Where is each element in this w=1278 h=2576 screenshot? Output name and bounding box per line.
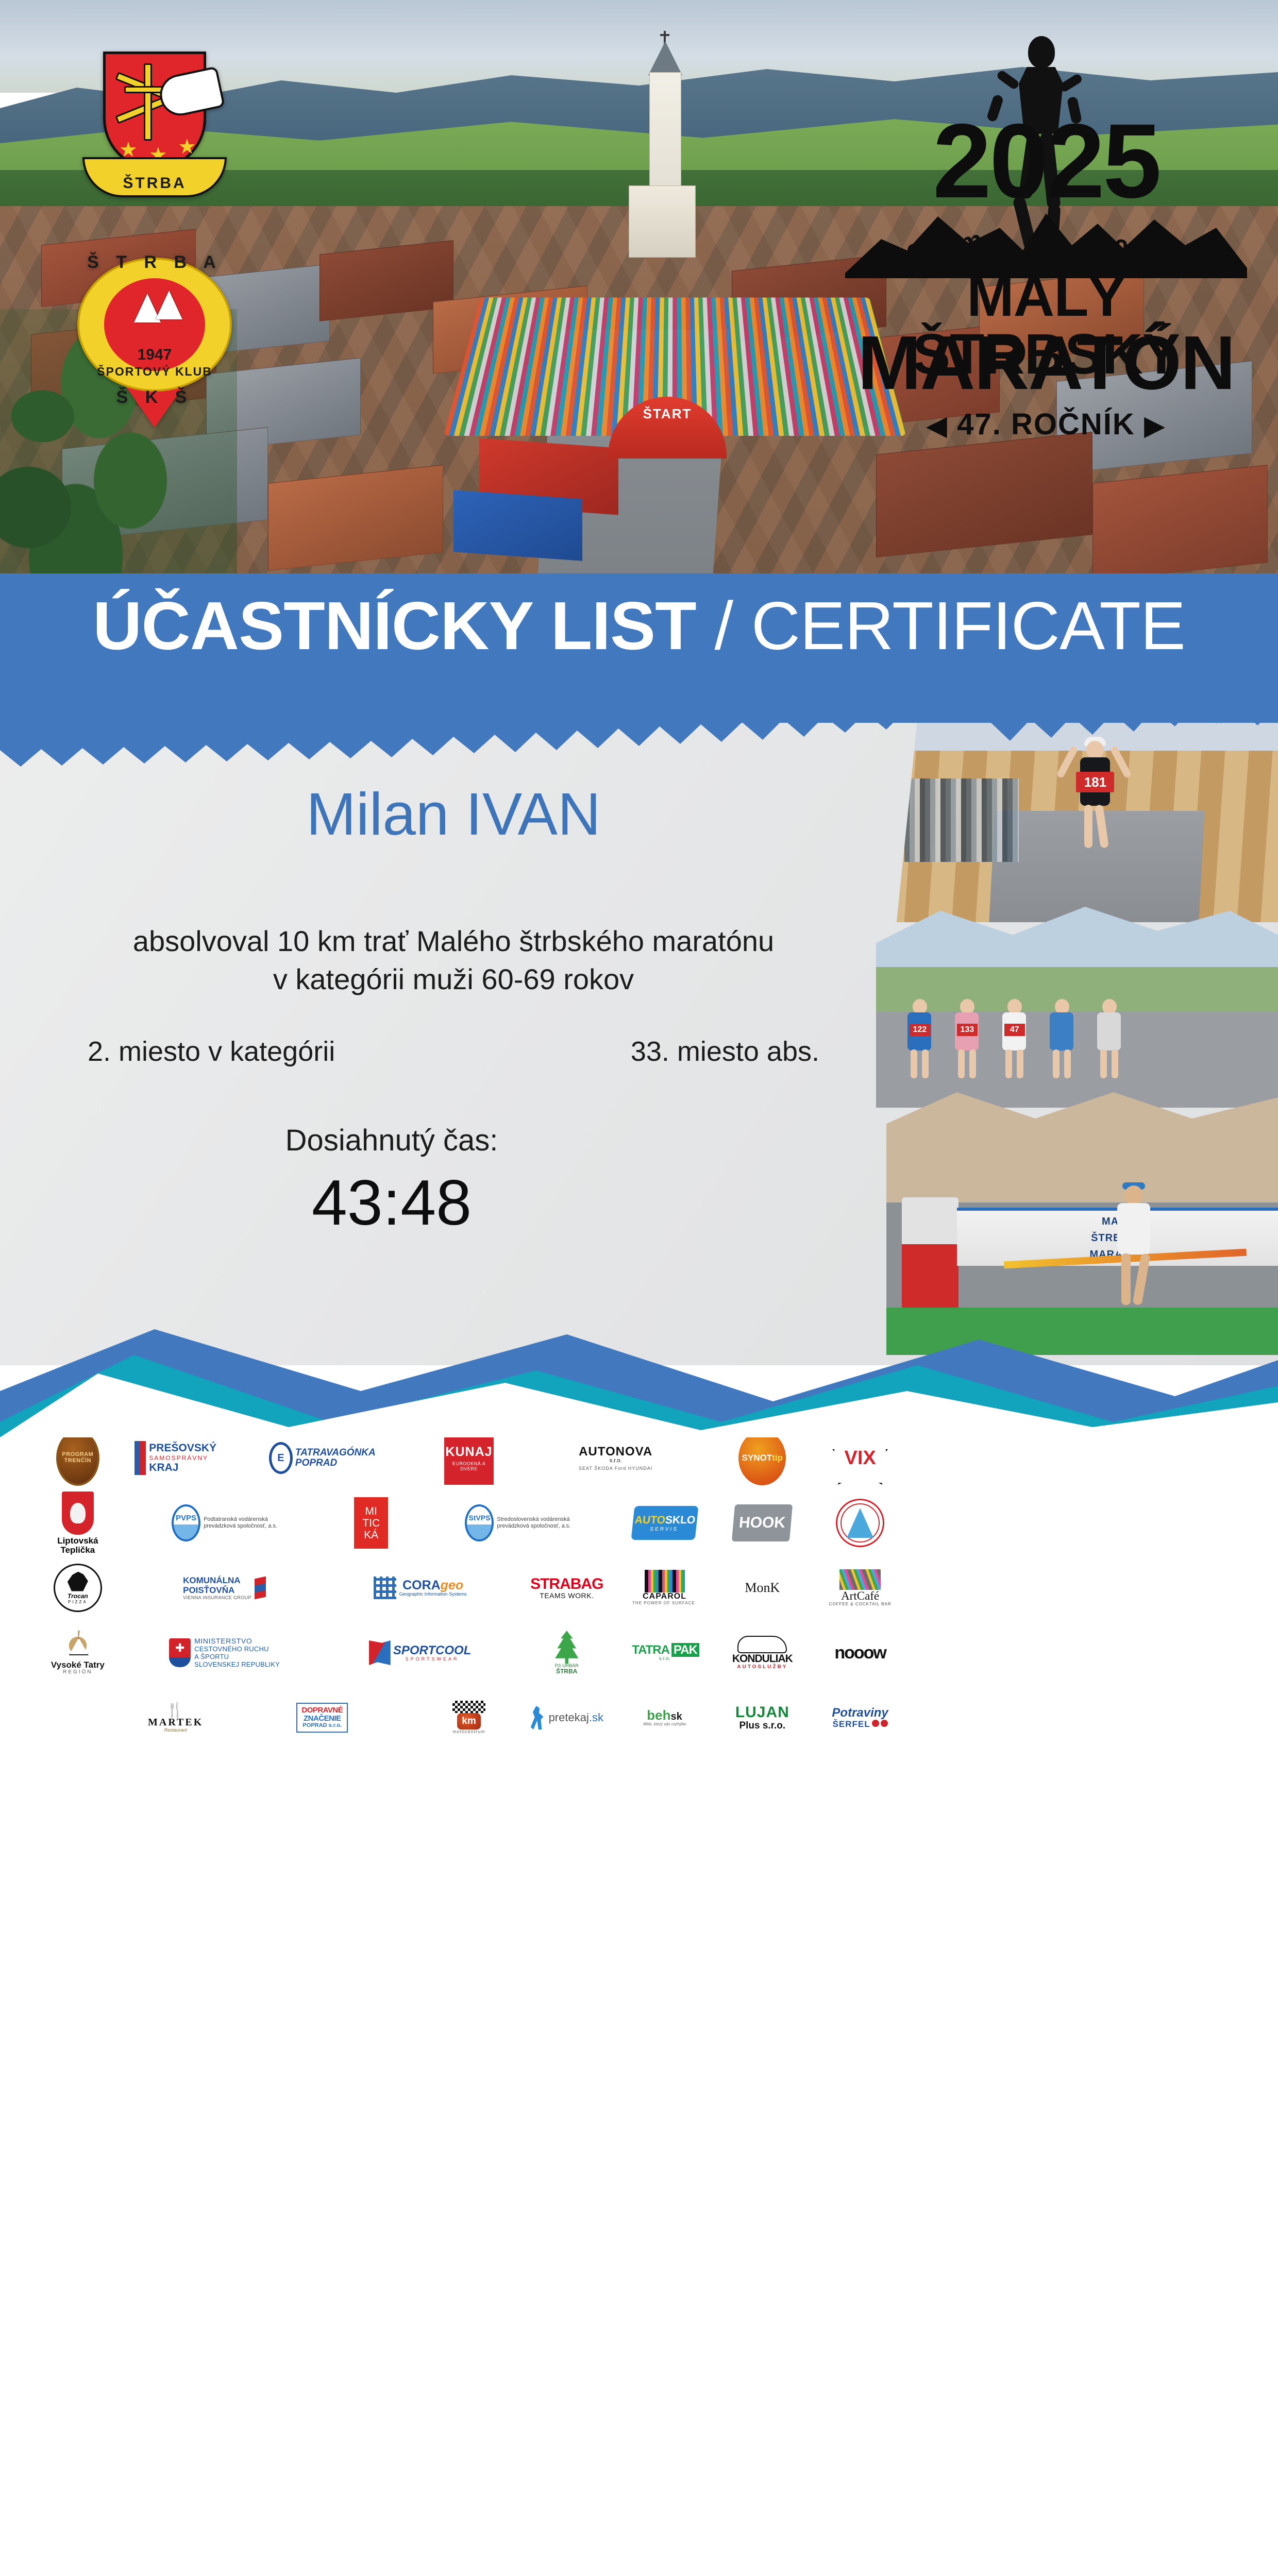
race-edition: ◀ 47. ROČNÍK ▶ bbox=[830, 407, 1263, 442]
sponsor-sublabel: CESTOVNÉHO RUCHU bbox=[194, 1645, 280, 1653]
sponsor-sublabel: THE POWER OF SURFACE. bbox=[632, 1601, 697, 1605]
corageo-grid-icon bbox=[374, 1577, 396, 1599]
group-bib-1: 122 bbox=[910, 1024, 930, 1036]
sponsor-label: KONDULIAK bbox=[732, 1653, 793, 1665]
sponsor-strabag: STRABAG TEAMS WORK. bbox=[520, 1557, 614, 1619]
crest-ribbon: ŠTRBA bbox=[82, 157, 227, 197]
group-bib-2: 133 bbox=[957, 1024, 978, 1036]
sponsor-label: AUTONOVA bbox=[579, 1445, 652, 1458]
sponsor-nooow: nooow bbox=[813, 1622, 907, 1684]
presov-flag-icon bbox=[134, 1441, 146, 1475]
sponsor-sublabel: VIENNA INSURANCE GROUP bbox=[183, 1595, 251, 1600]
sponsor-label: ArtCafé bbox=[841, 1590, 879, 1602]
sponsor-label: pretekaj bbox=[549, 1711, 589, 1724]
sponsor-label: MI bbox=[365, 1505, 377, 1517]
mountain-divider bbox=[0, 1273, 1278, 1437]
sponsor-sublabel2: prevádzková spoločnosť, a.s. bbox=[497, 1523, 570, 1530]
sponsor-sublabel: SAMOSPRÁVNY bbox=[149, 1454, 216, 1462]
sponsor-dopravne-znacenie: DOPRAVNÉ ZNAČENIE POPRAD s.r.o. bbox=[227, 1687, 418, 1749]
photo-group-runners: 122 133 47 bbox=[876, 907, 1278, 1108]
sponsor-label: MARTEK bbox=[148, 1717, 203, 1728]
finisher-bib-number: 181 bbox=[1076, 772, 1114, 792]
sponsor-sublabel: Geographic Information Systems bbox=[399, 1592, 467, 1597]
sponsor-sublabel: Web, ktorý vás rozhýbe bbox=[643, 1722, 686, 1726]
sks-bottom-label: ŠPORTOVÝ KLUB bbox=[77, 365, 232, 379]
sport-club-logo: Š T R B A 1947 ŠPORTOVÝ KLUB Š K Š bbox=[77, 247, 232, 422]
crest-shield: ★ ★ ★ bbox=[103, 52, 206, 170]
slovak-coat-of-arms-icon bbox=[169, 1638, 191, 1667]
race-year: 2025 bbox=[830, 108, 1263, 214]
description-line-1: absolvoval 10 km trať Malého štrbského m… bbox=[31, 922, 876, 960]
sponsor-sublabel: SPORTSWEAR bbox=[406, 1657, 459, 1662]
sponsor-label: PVPS bbox=[176, 1514, 196, 1522]
sponsor-label: Potraviny bbox=[832, 1706, 888, 1719]
sponsor-hook: HOOK bbox=[715, 1492, 809, 1554]
sponsor-sublabel2: prevádzková spoločnosť, a.s. bbox=[204, 1523, 277, 1530]
car-outline-icon bbox=[737, 1636, 787, 1653]
church-spire bbox=[648, 41, 682, 75]
sponsor-label: VIX bbox=[832, 1431, 888, 1485]
race-edition-label: 47. ROČNÍK bbox=[957, 408, 1135, 441]
start-arch-label: ŠTART bbox=[608, 406, 727, 422]
sponsor-label: beh bbox=[647, 1707, 670, 1723]
sponsor-sublabel: REGIÓN bbox=[63, 1670, 92, 1675]
sponsor-label: PREŠOVSKÝ bbox=[149, 1442, 216, 1454]
start-arch: ŠTART bbox=[608, 397, 727, 459]
sponsor-corageo: CORAgeo Geographic Information Systems bbox=[324, 1557, 516, 1619]
race-logo: 2025 31 km 10 km MALÝ ŠTRBSKÝ MARATÓN ◀ … bbox=[830, 31, 1263, 459]
sponsor-brands: SEAT ŠKODA Ford HYUNDAI bbox=[579, 1466, 652, 1471]
sponsor-label: TATRA bbox=[630, 1643, 671, 1657]
group-runner bbox=[1042, 992, 1081, 1079]
sponsor-sublabel: .sk bbox=[589, 1711, 603, 1724]
place-absolute: 33. miesto abs. bbox=[631, 1036, 819, 1067]
sponsor-sportcool: SPORTCOOL SPORTSWEAR bbox=[324, 1622, 516, 1684]
sponsor-label2: sk bbox=[671, 1711, 682, 1722]
sponsor-sublabel: TEAMS WORK. bbox=[540, 1592, 594, 1600]
strba-town-crest: ★ ★ ★ ŠTRBA bbox=[82, 52, 227, 206]
sks-peak-right bbox=[156, 291, 182, 319]
sponsor-autosklo: AUTOSKLO SERVIS bbox=[618, 1492, 712, 1554]
banner-title-sk: ÚČASTNÍCKY LIST bbox=[93, 588, 714, 664]
banner-title: ÚČASTNÍCKY LIST / CERTIFICATE bbox=[0, 590, 1278, 662]
group-bib-3: 47 bbox=[1004, 1024, 1025, 1036]
sponsor-label: TATRAVAGÓNKA bbox=[295, 1448, 376, 1458]
sponsor-sublabel: s.r.o. bbox=[659, 1656, 670, 1662]
church bbox=[634, 31, 696, 247]
sks-abbrev-label: Š K Š bbox=[77, 387, 232, 408]
sponsor-label: km bbox=[457, 1713, 481, 1730]
sponsor-komunalna-poistovna: KOMUNÁLNA POISŤOVŇA VIENNA INSURANCE GRO… bbox=[129, 1557, 321, 1619]
sponsor-sublabel: Stredoslovenská vodárenská bbox=[497, 1516, 570, 1523]
sponsor-label: LUJAN bbox=[735, 1704, 789, 1721]
crest-hand bbox=[156, 66, 225, 119]
sponsor-polnohospodarske-druzstvo bbox=[813, 1492, 907, 1554]
sponsor-label: Vysoké Tatry bbox=[51, 1660, 105, 1670]
runner-icon bbox=[530, 1706, 546, 1730]
sponsor-sublabel2: KÁ bbox=[364, 1529, 378, 1541]
sponsor-sublabel: COFFEE & COCKTAIL BAR bbox=[829, 1602, 892, 1606]
sponsor-tatrapak: TATRAPAK s.r.o. bbox=[618, 1622, 712, 1684]
sks-top-label: Š T R B A bbox=[77, 252, 232, 273]
sponsor-label: HOOK bbox=[732, 1504, 793, 1541]
sponsor-label: StVPS bbox=[468, 1514, 490, 1522]
certificate-description: absolvoval 10 km trať Malého štrbského m… bbox=[31, 922, 876, 998]
description-line-2: v kategórii muži 60-69 rokov bbox=[31, 960, 876, 998]
sponsor-label: AUTO bbox=[634, 1514, 666, 1526]
turkey-icon bbox=[68, 1572, 88, 1591]
group-runner: 122 bbox=[900, 992, 938, 1079]
sponsor-label: MINISTERSTVO bbox=[194, 1637, 280, 1645]
sponsor-sublabel: TIC bbox=[362, 1517, 380, 1529]
sponsor-sublabel: s.r.o. bbox=[610, 1458, 622, 1464]
sponsor-liptovska-teplicka: Liptovská Teplička bbox=[31, 1492, 125, 1554]
sponsor-sublabel: EUROOKNÁ A DVERE bbox=[444, 1461, 494, 1471]
place-in-category: 2. miesto v kategórii bbox=[88, 1036, 335, 1067]
sponsor-sublabel: ŠTRBA bbox=[556, 1668, 577, 1675]
placements: 2. miesto v kategórii 33. miesto abs. bbox=[31, 1036, 876, 1067]
tatravagonka-mark-icon: E bbox=[277, 1452, 284, 1464]
liptovska-shield-icon bbox=[62, 1492, 94, 1535]
sponsor-label: Liptovská bbox=[57, 1536, 98, 1546]
sponsor-trocan-pizza: Trocan PIZZA bbox=[31, 1557, 125, 1619]
druzstvo-emblem-icon bbox=[836, 1499, 884, 1547]
sponsor-km-motocentrum: km motocentrum bbox=[422, 1687, 516, 1749]
sponsor-label: DOPRAVNÉ bbox=[301, 1706, 343, 1715]
cutlery-icon: 🍴 bbox=[166, 1702, 185, 1717]
church-nave bbox=[629, 185, 696, 258]
banner-jagged-edge bbox=[0, 659, 1278, 773]
checkered-flag-icon bbox=[452, 1701, 485, 1713]
group-runner: 47 bbox=[995, 992, 1033, 1079]
sponsor-sublabel: Podtatranská vodárenská bbox=[204, 1516, 277, 1523]
sponsor-label2: POISŤOVŇA bbox=[183, 1585, 251, 1595]
participant-name: Milan IVAN bbox=[0, 783, 907, 845]
sponsor-label: KUNAJ bbox=[445, 1445, 492, 1460]
komunalna-flag-icon bbox=[255, 1577, 266, 1600]
sponsor-sublabel3: SLOVENSKEJ REPUBLIKY bbox=[194, 1660, 280, 1668]
sponsor-vysoke-tatry: Vysoké Tatry REGIÓN bbox=[31, 1622, 125, 1684]
arrow-left-icon: ◀ bbox=[927, 411, 948, 440]
sponsor-label: Trocan bbox=[68, 1592, 88, 1600]
sponsor-label: nooow bbox=[834, 1643, 886, 1663]
sponsor-beh-sk: behsk Web, ktorý vás rozhýbe bbox=[618, 1687, 712, 1749]
sponsor-sublabel: AUTOSLUŽBY bbox=[737, 1665, 787, 1670]
photo-collage: 181 122 133 47 bbox=[876, 690, 1278, 1355]
banner-title-en: / CERTIFICATE bbox=[714, 588, 1185, 664]
sponsor-label2: PAK bbox=[671, 1643, 699, 1657]
sponsor-label2: geo bbox=[441, 1578, 463, 1592]
sponsor-sublabel: motocentrum bbox=[452, 1730, 485, 1734]
serfel-dots-icon bbox=[870, 1720, 888, 1729]
sponsor-sublabel: Teplička bbox=[60, 1546, 95, 1555]
sponsor-label: CORA bbox=[402, 1578, 441, 1592]
caparol-stripes-icon bbox=[645, 1570, 685, 1592]
sponsor-sublabel: tip bbox=[772, 1453, 783, 1463]
sponsor-potraviny-serfel: Potraviny ŠERFEL bbox=[813, 1687, 907, 1749]
sponsor-sublabel: TRENČÍN bbox=[64, 1458, 91, 1464]
sponsor-label: KOMUNÁLNA bbox=[183, 1575, 251, 1585]
sponsor-stvps: StVPS Stredoslovenská vodárenská prevádz… bbox=[422, 1492, 614, 1554]
sponsor-sublabel: SERVIS bbox=[649, 1527, 678, 1532]
group-runner: 133 bbox=[948, 992, 986, 1079]
sponsor-area: PROGRAM TRENČÍN PREŠOVSKÝ SAMOSPRÁVNY KR… bbox=[0, 1412, 1278, 1807]
sponsor-konduliak: KONDULIAK AUTOSLUŽBY bbox=[715, 1622, 809, 1684]
race-title-line2: MARATÓN bbox=[830, 325, 1263, 402]
sponsor-grid: PROGRAM TRENČÍN PREŠOVSKÝ SAMOSPRÁVNY KR… bbox=[31, 1427, 907, 1749]
sponsor-lujan-plus: LUJAN Plus s.r.o. bbox=[715, 1687, 809, 1749]
sks-year-label: 1947 bbox=[77, 346, 232, 364]
time-label: Dosiahnutý čas: bbox=[31, 1123, 752, 1158]
sponsor-ministerstvo: MINISTERSTVO CESTOVNÉHO RUCHU A ŠPORTU S… bbox=[129, 1622, 321, 1684]
sportcool-flame-icon bbox=[369, 1640, 391, 1665]
sponsor-sublabel: PIZZA bbox=[68, 1600, 88, 1604]
sponsor-sublabel: ŠERFEL bbox=[833, 1719, 870, 1729]
sponsor-sublabel: POPRAD s.r.o. bbox=[302, 1723, 342, 1729]
sponsor-label2: KRAJ bbox=[149, 1462, 216, 1474]
sponsor-martek: 🍴 MARTEK Restaurant bbox=[129, 1687, 223, 1749]
tree-icon bbox=[553, 1631, 581, 1664]
blue-tent bbox=[453, 490, 582, 561]
sponsor-pvps: PVPS Podtatranská vodárenská prevádzková… bbox=[129, 1492, 321, 1554]
crest-ribbon-label: ŠTRBA bbox=[123, 175, 186, 192]
sponsor-sublabel: Plus s.r.o. bbox=[739, 1721, 785, 1731]
artcafe-stripes-icon bbox=[839, 1569, 881, 1590]
sponsor-miticka: MI TIC KÁ bbox=[324, 1492, 418, 1554]
sponsor-pretekaj-sk: pretekaj.sk bbox=[520, 1687, 614, 1749]
hero-photo: ŠTART ★ ★ ★ ŠTRBA Š T R B A 1947 ŠPORTOV… bbox=[0, 0, 1278, 577]
sponsor-label: STRABAG bbox=[530, 1576, 603, 1592]
sponsor-label2: ZNAČENIE bbox=[304, 1715, 341, 1723]
sponsor-label: CAPAROL bbox=[643, 1592, 686, 1601]
time-value: 43:48 bbox=[31, 1170, 752, 1236]
sponsor-label: MonK bbox=[745, 1580, 780, 1596]
sponsor-sublabel: POPRAD bbox=[295, 1458, 376, 1468]
sponsor-label: SPORTCOOL bbox=[393, 1644, 472, 1657]
arrow-right-icon: ▶ bbox=[1145, 411, 1165, 440]
edelweiss-icon bbox=[62, 1631, 94, 1660]
sponsor-label2: SKLO bbox=[664, 1514, 696, 1526]
sponsor-ps-urbar-strba: PS URBÁR ŠTRBA bbox=[520, 1622, 614, 1684]
sponsor-caparol: CAPAROL THE POWER OF SURFACE. bbox=[618, 1557, 712, 1619]
sponsor-monk: MonK bbox=[715, 1557, 809, 1619]
group-runner bbox=[1090, 992, 1128, 1079]
sponsor-sublabel2: A ŠPORTU bbox=[194, 1653, 280, 1660]
sponsor-artcafe: ArtCafé COFFEE & COCKTAIL BAR bbox=[813, 1557, 907, 1619]
sponsor-sublabel: Restaurant bbox=[164, 1728, 187, 1733]
sponsor-label: SYNOT bbox=[742, 1453, 772, 1463]
